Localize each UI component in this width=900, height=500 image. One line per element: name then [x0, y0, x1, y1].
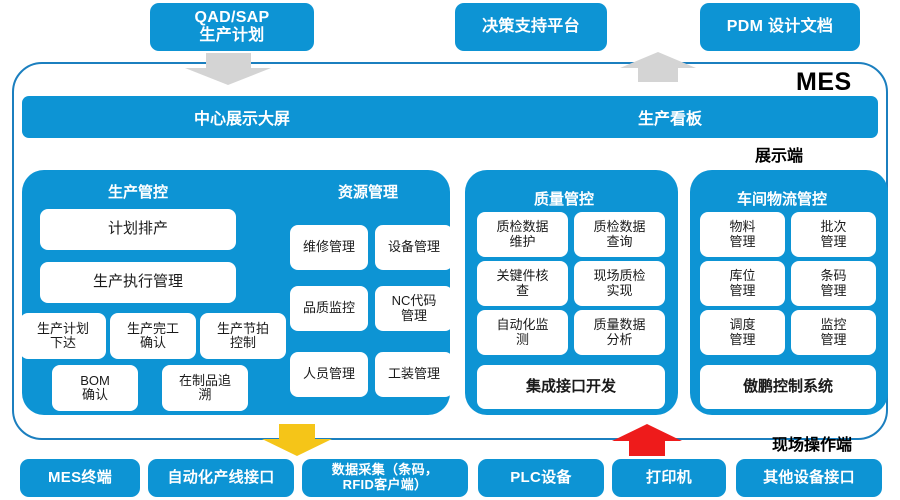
display-bar: 中心展示大屏生产看板	[22, 96, 878, 138]
device-plc-device[interactable]: PLC设备	[478, 459, 604, 497]
display-segment-center-screen[interactable]: 中心展示大屏	[22, 105, 462, 129]
device-printer[interactable]: 打印机	[612, 459, 726, 497]
device-auto-line-interface[interactable]: 自动化产线接口	[148, 459, 294, 497]
module-plan-scheduling[interactable]: 计划排产	[40, 209, 236, 250]
module-key-part-check[interactable]: 关键件核查	[477, 261, 568, 306]
top-system-pdm-doc[interactable]: PDM 设计文档	[700, 3, 860, 51]
mes-title-label: MES	[796, 68, 852, 97]
panel-title-workshop-logistics: 车间物流管控	[737, 188, 827, 209]
module-integration-interface[interactable]: 集成接口开发	[477, 365, 665, 409]
arrow-arrow-input-up	[612, 424, 682, 456]
module-qc-data-maintain[interactable]: 质检数据维护	[477, 212, 568, 257]
caption-display-side: 展示端	[755, 142, 803, 166]
module-automation-monitor[interactable]: 自动化监测	[477, 310, 568, 355]
module-material-mgmt[interactable]: 物料管理	[700, 212, 785, 257]
module-location-mgmt[interactable]: 库位管理	[700, 261, 785, 306]
panel-title-resource-management: 资源管理	[338, 181, 398, 202]
arrow-arrow-output-down	[262, 424, 332, 456]
module-batch-mgmt[interactable]: 批次管理	[791, 212, 876, 257]
module-maintenance-mgmt[interactable]: 维修管理	[290, 225, 368, 270]
top-system-qad-sap[interactable]: QAD/SAP生产计划	[150, 3, 314, 51]
module-monitor-mgmt[interactable]: 监控管理	[791, 310, 876, 355]
module-quality-data-analysis[interactable]: 质量数据分析	[574, 310, 665, 355]
panel-title-quality-control: 质量管控	[534, 188, 594, 209]
module-barcode-mgmt[interactable]: 条码管理	[791, 261, 876, 306]
module-takt-control[interactable]: 生产节拍控制	[200, 313, 286, 359]
module-completion-confirm[interactable]: 生产完工确认	[110, 313, 196, 359]
device-data-collection[interactable]: 数据采集（条码，RFID客户端）	[302, 459, 468, 497]
display-segment-production-board[interactable]: 生产看板	[462, 105, 878, 129]
mes-architecture-diagram: MES QAD/SAP生产计划决策支持平台PDM 设计文档 中心展示大屏生产看板…	[0, 0, 900, 500]
caption-field-operation-side: 现场操作端	[772, 431, 852, 455]
device-mes-terminal[interactable]: MES终端	[20, 459, 140, 497]
module-nc-code-mgmt[interactable]: NC代码管理	[375, 286, 453, 331]
module-personnel-mgmt[interactable]: 人员管理	[290, 352, 368, 397]
module-onsite-qc[interactable]: 现场质检实现	[574, 261, 665, 306]
module-tooling-mgmt[interactable]: 工装管理	[375, 352, 453, 397]
module-dispatch-mgmt[interactable]: 调度管理	[700, 310, 785, 355]
device-other-device-interface[interactable]: 其他设备接口	[736, 459, 882, 497]
arrow-arrow-decision-up	[620, 52, 696, 82]
module-aopeng-control-system[interactable]: 傲鹏控制系统	[700, 365, 876, 409]
module-qc-data-query[interactable]: 质检数据查询	[574, 212, 665, 257]
module-wip-trace[interactable]: 在制品追溯	[162, 365, 248, 411]
arrow-arrow-plan-down	[185, 53, 271, 85]
module-quality-monitor[interactable]: 品质监控	[290, 286, 368, 331]
module-production-execution[interactable]: 生产执行管理	[40, 262, 236, 303]
module-plan-release[interactable]: 生产计划下达	[20, 313, 106, 359]
top-system-decision-platform[interactable]: 决策支持平台	[455, 3, 607, 51]
panel-title-production-control: 生产管控	[108, 181, 168, 202]
module-bom-confirm[interactable]: BOM确认	[52, 365, 138, 411]
module-equipment-mgmt[interactable]: 设备管理	[375, 225, 453, 270]
